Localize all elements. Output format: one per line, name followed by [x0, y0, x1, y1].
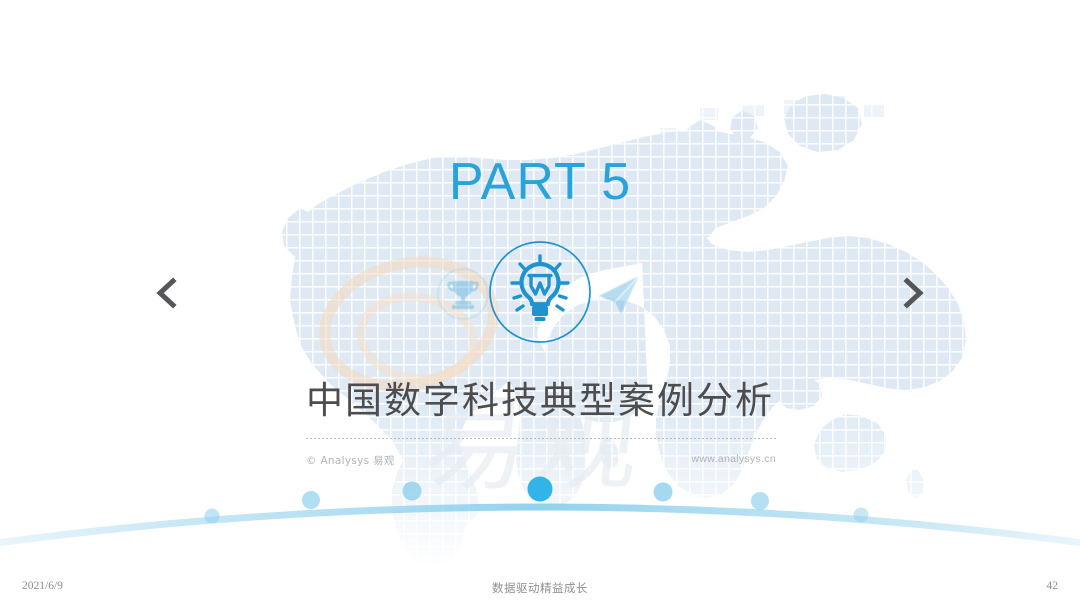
divider	[306, 438, 776, 439]
chevron-left-icon[interactable]	[144, 270, 190, 316]
section-icon-cluster	[435, 248, 645, 340]
progress-arc	[0, 462, 1080, 558]
footer-tagline: 数据驱动精益成长	[0, 580, 1080, 596]
part-label: PART 5	[0, 152, 1080, 212]
slide-canvas: 易观 PART 5	[0, 0, 1080, 608]
lightbulb-icon	[486, 238, 594, 346]
paper-plane-icon	[591, 266, 647, 322]
chevron-right-icon[interactable]	[890, 270, 936, 316]
trophy-icon	[435, 266, 491, 322]
page-number: 42	[1047, 580, 1059, 592]
page-title: 中国数字科技典型案例分析	[0, 370, 1080, 424]
footer-bar: 2021/6/9 数据驱动精益成长 42	[0, 568, 1080, 608]
